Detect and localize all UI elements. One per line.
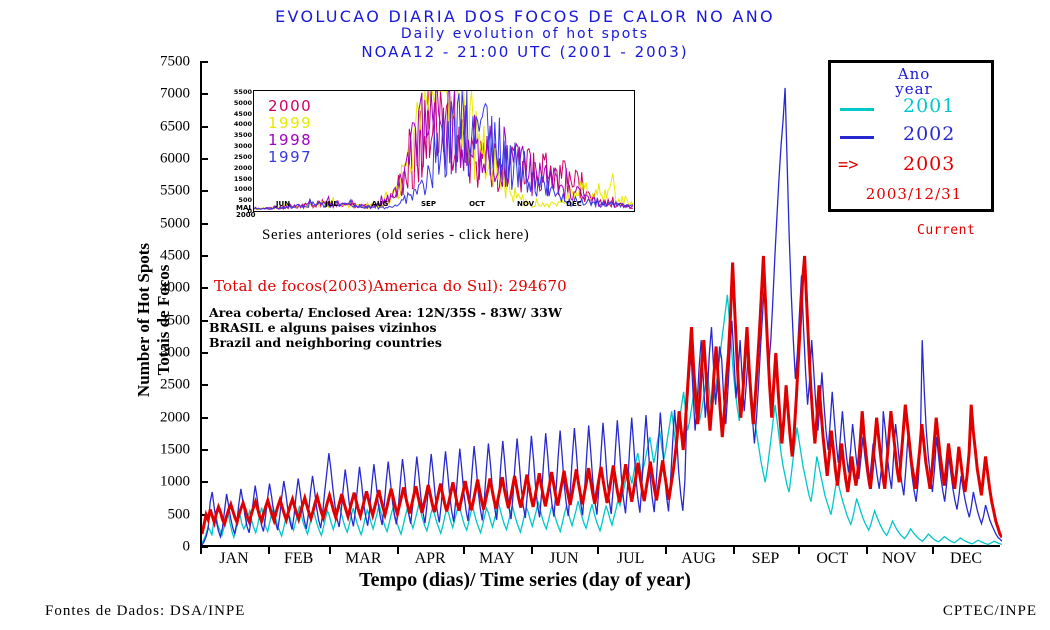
x-axis-tick-mark — [798, 547, 800, 554]
page-title: EVOLUCAO DIARIA DOS FOCOS DE CALOR NO AN… — [0, 8, 1050, 26]
inset-legend-label-1997: 1997 — [268, 148, 312, 166]
inset-legend-label-2000: 2000 — [268, 97, 312, 115]
y-axis-tick-label: 1500 — [160, 442, 190, 459]
chart-source-line: NOAA12 - 21:00 UTC (2001 - 2003) — [0, 43, 1050, 61]
inset-x-axis-tick-label: NOV — [517, 200, 534, 208]
legend-swatch-2001 — [840, 108, 874, 111]
x-axis-tick-mark — [200, 547, 202, 554]
legend-label-2002: 2002 — [903, 123, 955, 145]
legend-title: Ano year — [831, 67, 997, 97]
y-axis-tick-label: 5500 — [160, 183, 190, 200]
enclosed-area-info: Area coberta/ Enclosed Area: 12N/35S - 8… — [209, 305, 562, 350]
x-axis-tick-mark — [397, 547, 399, 554]
legend-item-2002: 2002 — [831, 125, 997, 151]
inset-y-axis-tick-label: 5000 — [234, 99, 252, 107]
legend-label-2003: 2003 — [903, 153, 955, 175]
y-axis-tick-label: 0 — [183, 539, 191, 556]
inset-y-axis-tick-label: 500 — [238, 196, 252, 204]
old-series-link[interactable]: Series anteriores (old series - click he… — [262, 227, 529, 244]
enclosed-area-coords: Area coberta/ Enclosed Area: 12N/35S - 8… — [209, 305, 562, 320]
inset-x-axis-tick-label: SEP — [421, 200, 436, 208]
footer-institution: CPTEC/INPE — [943, 603, 1037, 620]
inset-y-axis-tick-label: 2000 — [234, 164, 252, 172]
y-axis-tick-label: 5000 — [160, 215, 190, 232]
y-axis-tick-label: 6000 — [160, 151, 190, 168]
enclosed-area-pt: BRASIL e alguns paises vizinhos — [209, 320, 562, 335]
inset-y-axis-tick-label: 4000 — [234, 120, 252, 128]
inset-origin-label: MAI 2000 — [236, 205, 255, 219]
x-axis-tick-mark — [665, 547, 667, 554]
inset-y-axis-tick-label: 3500 — [234, 131, 252, 139]
legend-box: Ano year Current 2003/12/31 20012002=>20… — [828, 60, 994, 212]
inset-y-axis-tick-label: 5500 — [234, 88, 252, 96]
inset-x-axis-tick-label: JUL — [325, 200, 338, 208]
inset-x-axis-tick-labels: JUNJULAUGSEPOCTNOVDEC — [253, 200, 635, 214]
legend-current-label: Current — [917, 223, 975, 238]
x-axis-tick-mark — [932, 547, 934, 554]
inset-y-axis-tick-label: 4500 — [234, 110, 252, 118]
y-axis-tick-label: 4000 — [160, 280, 190, 297]
y-axis-tick-label: 6500 — [160, 118, 190, 135]
legend-item-2001: 2001 — [831, 97, 997, 123]
x-axis-tick-mark — [268, 547, 270, 554]
inset-x-axis-tick-label: AUG — [372, 200, 389, 208]
y-axis-tick-label: 4500 — [160, 248, 190, 265]
legend-label-2001: 2001 — [903, 95, 955, 117]
x-axis-tick-marks — [200, 547, 1000, 555]
x-axis-tick-mark — [866, 547, 868, 554]
y-axis-tick-label: 3000 — [160, 345, 190, 362]
inset-x-axis-tick-label: DEC — [566, 200, 582, 208]
inset-y-axis-tick-label: 2500 — [234, 153, 252, 161]
x-axis-tick-mark — [463, 547, 465, 554]
inset-y-axis-tick-labels: 5500500045004000350030002500200015001000… — [227, 86, 254, 212]
legend-item-2003: =>2003 — [831, 155, 997, 181]
y-axis-tick-label: 2500 — [160, 377, 190, 394]
chart-subtitle: Daily evolution of hot spots — [0, 26, 1050, 43]
x-axis-title: Tempo (dias)/ Time series (day of year) — [0, 569, 1050, 592]
x-axis-tick-mark — [531, 547, 533, 554]
x-axis-tick-mark — [733, 547, 735, 554]
y-axis-tick-labels: 0500100015002000250030003500400045005000… — [0, 62, 200, 547]
inset-legend-label-1998: 1998 — [268, 131, 312, 149]
inset-legend-label-1999: 1999 — [268, 114, 312, 132]
legend-date: 2003/12/31 — [831, 185, 997, 203]
y-axis-tick-label: 500 — [168, 506, 191, 523]
legend-swatch-2002 — [840, 136, 874, 139]
inset-x-axis-tick-label: JUN — [276, 200, 290, 208]
inset-y-axis-tick-label: 1500 — [234, 175, 252, 183]
chart-title-block: EVOLUCAO DIARIA DOS FOCOS DE CALOR NO AN… — [0, 8, 1050, 61]
x-axis-tick-mark — [597, 547, 599, 554]
x-axis-tick-mark — [329, 547, 331, 554]
enclosed-area-en: Brazil and neighboring countries — [209, 335, 562, 350]
y-axis-tick-label: 3500 — [160, 312, 190, 329]
total-hotspots-label: Total de focos(2003)America do Sul): 294… — [214, 277, 567, 295]
series-line-2003 — [202, 256, 1002, 537]
footer-data-source: Fontes de Dados: DSA/INPE — [45, 603, 245, 620]
inset-y-axis-tick-label: 3000 — [234, 142, 252, 150]
inset-y-axis-tick-label: 1000 — [234, 185, 252, 193]
y-axis-tick-label: 7000 — [160, 86, 190, 103]
legend-arrow-icon: => — [838, 157, 858, 174]
y-axis-tick-label: 7500 — [160, 54, 190, 71]
y-axis-tick-label: 1000 — [160, 474, 190, 491]
inset-x-axis-tick-label: OCT — [469, 200, 485, 208]
y-axis-tick-label: 2000 — [160, 409, 190, 426]
inset-origin-year: 2000 — [236, 212, 255, 219]
